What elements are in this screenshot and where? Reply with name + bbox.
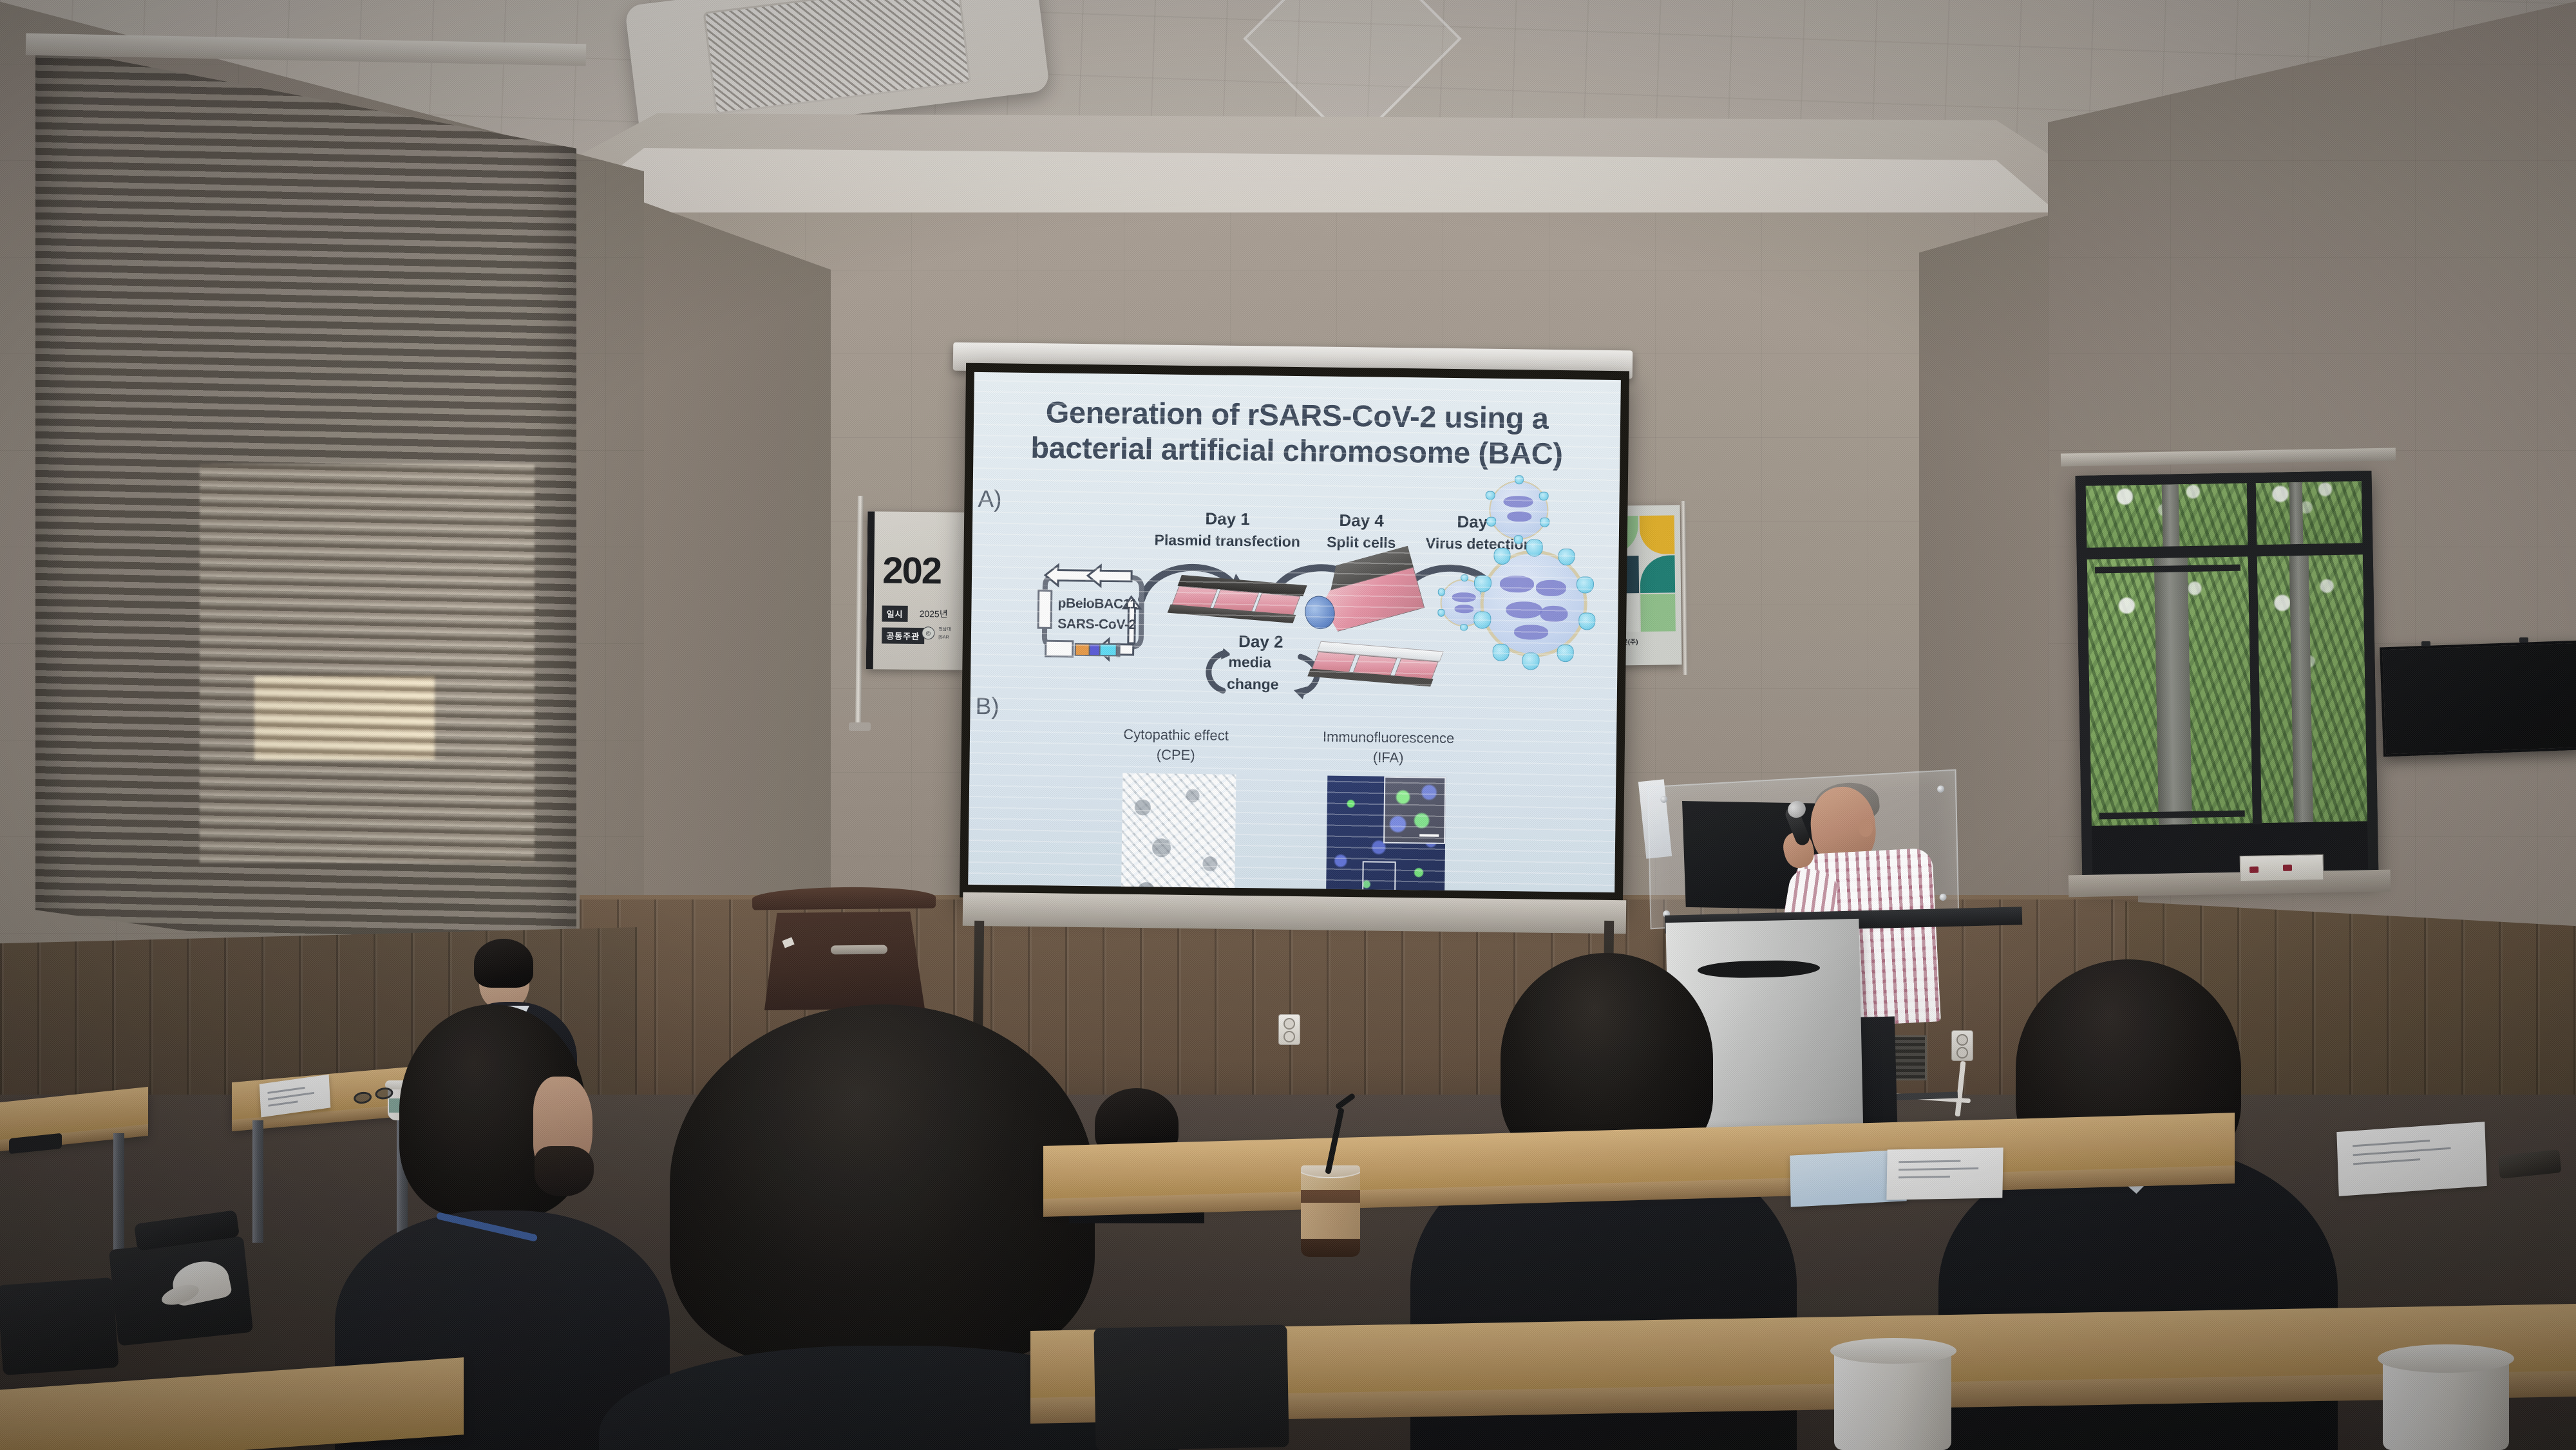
person-beard xyxy=(535,1146,594,1196)
day4-label: Day 4 xyxy=(1307,510,1416,531)
box-label-mark xyxy=(2249,867,2259,873)
virion-rna xyxy=(1455,605,1474,614)
presenter-ear xyxy=(1859,819,1873,837)
podium-handle-slot xyxy=(1698,959,1821,979)
lectern-handle-slot xyxy=(831,945,887,955)
virion-rna xyxy=(1506,601,1542,619)
media-word: media xyxy=(1228,654,1271,671)
shield-screw xyxy=(1939,894,1946,901)
window-pane-top-right xyxy=(2255,481,2363,546)
booklet-text-line xyxy=(268,1092,314,1100)
booklet-text-line xyxy=(1899,1167,1978,1171)
cup-sleeve xyxy=(1301,1203,1360,1239)
virion-spike xyxy=(1486,517,1496,527)
ifa-roi-box xyxy=(1362,861,1396,892)
cpe-micrograph xyxy=(1121,773,1236,892)
media-change-loop-icon xyxy=(1197,648,1230,696)
virion-rna xyxy=(1514,625,1548,640)
virion-rna xyxy=(1540,606,1567,622)
tv-mount-bracket xyxy=(2421,641,2430,646)
virion-spike xyxy=(1460,624,1468,632)
virion-spike xyxy=(1577,576,1594,594)
change-word: change xyxy=(1227,675,1279,693)
wall-mounted-tv[interactable] xyxy=(2380,641,2576,757)
projection-screen: Generation of rSARS-CoV-2 using a bacter… xyxy=(960,363,1629,906)
outlet-socket xyxy=(1283,1018,1295,1030)
desk-leg xyxy=(252,1120,263,1243)
cup-lid-right xyxy=(2378,1344,2514,1373)
shield-screw xyxy=(1660,796,1667,804)
virion-spike xyxy=(1492,644,1510,661)
cpe-caption: Cytopathic effect (CPE) xyxy=(1099,724,1254,766)
ifa-inset-scalebar xyxy=(1419,834,1439,836)
ifa-zoom-inset xyxy=(1383,777,1446,844)
tree-trunk xyxy=(2154,556,2192,825)
chair-right[interactable] xyxy=(1094,1324,1289,1450)
slide-title-line2: bacterial artificial chromosome (BAC) xyxy=(1030,430,1563,471)
virion-spike xyxy=(1474,575,1492,592)
ac-grille xyxy=(703,0,972,115)
timeline-step-day4: Day 4 Split cells xyxy=(1307,510,1416,552)
virion-large xyxy=(1480,550,1588,658)
virion-rna xyxy=(1536,580,1566,596)
day1-label: Day 1 xyxy=(1150,508,1305,530)
virion-rna xyxy=(1452,592,1475,602)
blinds-sunlight-hotspot xyxy=(254,676,435,760)
program-booklet-right[interactable] xyxy=(2336,1122,2486,1196)
program-booklet-open[interactable] xyxy=(1886,1147,2003,1200)
ifa-caption: Immunofluorescence (IFA) xyxy=(1298,726,1479,769)
poster-block-yellow xyxy=(1640,515,1675,554)
banner-host-org-1: 전남대 xyxy=(938,626,951,632)
booklet-text-line xyxy=(1899,1160,1960,1163)
tree-trunk xyxy=(2289,554,2313,822)
plasmid-label: pBeloBAC11 SARS-CoV-2 xyxy=(1057,594,1137,635)
iced-coffee-cup[interactable] xyxy=(1301,1165,1360,1257)
ifa-micrograph xyxy=(1325,776,1446,892)
tree-trunk xyxy=(2162,484,2180,547)
virion-spike xyxy=(1539,491,1549,501)
tree-trunk xyxy=(2289,482,2304,545)
day2-change-text: change xyxy=(1227,675,1279,693)
cpe-abbrev: (CPE) xyxy=(1157,747,1195,764)
outlet-socket xyxy=(1283,1031,1295,1042)
ifa-abbrev: (IFA) xyxy=(1373,749,1404,766)
virion-spike xyxy=(1540,518,1549,527)
power-outlet-icon[interactable] xyxy=(1951,1030,1973,1061)
booklet-text-line xyxy=(2353,1158,2420,1165)
booklet-text-line xyxy=(1899,1176,1950,1178)
poster-block-green xyxy=(1640,594,1676,632)
virion-rna xyxy=(1504,496,1533,508)
poster-block-teal-quarter xyxy=(1640,555,1675,593)
window-pane-bottom-right xyxy=(2256,553,2367,823)
panel-b-label: B) xyxy=(975,693,999,720)
person-hair xyxy=(474,939,533,988)
day1-step: Plasmid transfection xyxy=(1150,531,1305,551)
virion-rna xyxy=(1507,511,1532,522)
banner-date-value: 2025년 xyxy=(920,607,948,620)
day2-media-text: media xyxy=(1228,654,1271,672)
chair[interactable] xyxy=(0,1277,119,1375)
virion-spike xyxy=(1473,612,1491,629)
person-hair xyxy=(670,1004,1095,1365)
box-label-mark xyxy=(2283,865,2292,871)
virion-spike xyxy=(1558,549,1575,566)
virion-spike xyxy=(1522,653,1540,670)
power-outlet-icon[interactable] xyxy=(1278,1014,1300,1045)
slide-title-line1: Generation of rSARS-CoV-2 using a xyxy=(1046,395,1549,435)
virion-rna xyxy=(1500,576,1534,593)
outlet-socket xyxy=(1956,1047,1968,1059)
booklet-text-line xyxy=(267,1087,305,1094)
blinds-sunlight-patch xyxy=(200,464,535,863)
shield-screw xyxy=(1937,786,1944,793)
slide-surface: Generation of rSARS-CoV-2 using a bacter… xyxy=(968,372,1621,892)
booklet-text-line xyxy=(2353,1140,2430,1147)
booklet-text-line xyxy=(268,1100,298,1106)
banner-host-tag: 공동주관 xyxy=(882,627,924,644)
tv-mount-bracket xyxy=(2519,637,2528,643)
banner-accent-stripe xyxy=(866,511,875,669)
outlet-socket xyxy=(1956,1034,1968,1046)
window-pane-bottom-left xyxy=(2087,555,2254,825)
window xyxy=(2075,471,2378,885)
ifa-title: Immunofluorescence xyxy=(1323,729,1455,746)
plasmid-map-diagram: pBeloBAC11 SARS-CoV-2 xyxy=(1032,560,1182,671)
banner-stand-foot xyxy=(849,722,871,731)
plasmid-insert: SARS-CoV-2 xyxy=(1057,616,1136,632)
slide-title: Generation of rSARS-CoV-2 using a bacter… xyxy=(1003,394,1591,472)
timeline-step-day1: Day 1 Plasmid transfection xyxy=(1150,508,1305,551)
virion-spike xyxy=(1557,645,1574,662)
booklet-text-line xyxy=(2353,1147,2451,1156)
event-banner: 202 일시 2025년 공동주관 ◎ 전남대 [SAR xyxy=(866,511,965,670)
host-seal-icon: ◎ xyxy=(922,626,934,639)
box-on-sill xyxy=(2240,854,2324,881)
banner-year-text: 202 xyxy=(882,549,941,592)
desk-leg xyxy=(113,1133,124,1256)
cpe-title: Cytopathic effect xyxy=(1123,726,1229,744)
virion-spike xyxy=(1437,588,1445,596)
virion-spike xyxy=(1578,613,1596,630)
banner-date-tag: 일시 xyxy=(882,605,907,621)
panel-a-label: A) xyxy=(978,485,1002,513)
window-pane-top-left xyxy=(2086,483,2249,549)
cup-rim xyxy=(1830,1338,1956,1364)
plasmid-name: pBeloBAC11 xyxy=(1057,596,1137,612)
lecture-hall-photo: 202 일시 2025년 공동주관 ◎ 전남대 [SAR 성정온(주) xyxy=(0,0,2576,1450)
banner-host-org-2: [SAR xyxy=(938,634,949,640)
window-blinds-left[interactable] xyxy=(35,45,576,985)
